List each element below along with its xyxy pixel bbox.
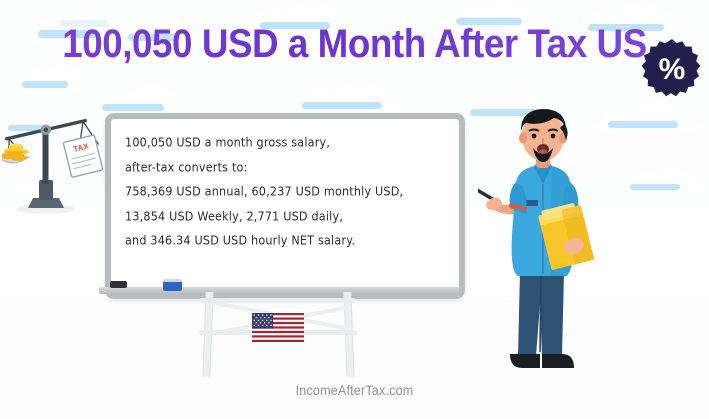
eye-left	[532, 134, 537, 139]
marker-tray	[99, 287, 459, 294]
whiteboard-eraser-icon	[163, 279, 182, 291]
whiteboard: 100,050 USD a month gross salary, after-…	[105, 113, 465, 299]
percent-symbol: %	[659, 53, 686, 86]
whiteboard-line: 758,369 USD annual, 60,237 USD monthly U…	[125, 179, 445, 206]
whiteboard-line: and 346.34 USD USD hourly NET salary.	[125, 228, 445, 255]
cloud-icon	[620, 168, 709, 196]
shoe-right	[542, 354, 574, 368]
whiteboard-surface: 100,050 USD a month gross salary, after-…	[111, 119, 459, 293]
gold-coins-icon	[2, 143, 29, 161]
eye-right	[551, 134, 556, 139]
site-footer: IncomeAfterTax.com	[25, 383, 684, 398]
whiteboard-line: 100,050 USD a month gross salary,	[125, 130, 445, 157]
balance-scales-icon: TAX	[2, 112, 110, 220]
whiteboard-stand-shelf	[200, 298, 355, 303]
percent-badge: %	[641, 38, 703, 100]
whiteboard-line: after-tax converts to:	[125, 154, 445, 181]
whiteboard-marker-icon	[110, 281, 127, 288]
infographic-canvas: 100,050 USD a Month After Tax US %	[0, 0, 709, 419]
shoe-left	[510, 354, 540, 368]
presenter-character	[478, 104, 628, 376]
us-flag-icon	[252, 313, 304, 342]
cloud-icon	[280, 80, 410, 116]
page-title: 100,050 USD a Month After Tax US	[28, 22, 680, 67]
whiteboard-line: 13,854 USD Weekly, 2,771 USD daily,	[125, 203, 445, 230]
pointer-stick-icon	[478, 160, 494, 200]
